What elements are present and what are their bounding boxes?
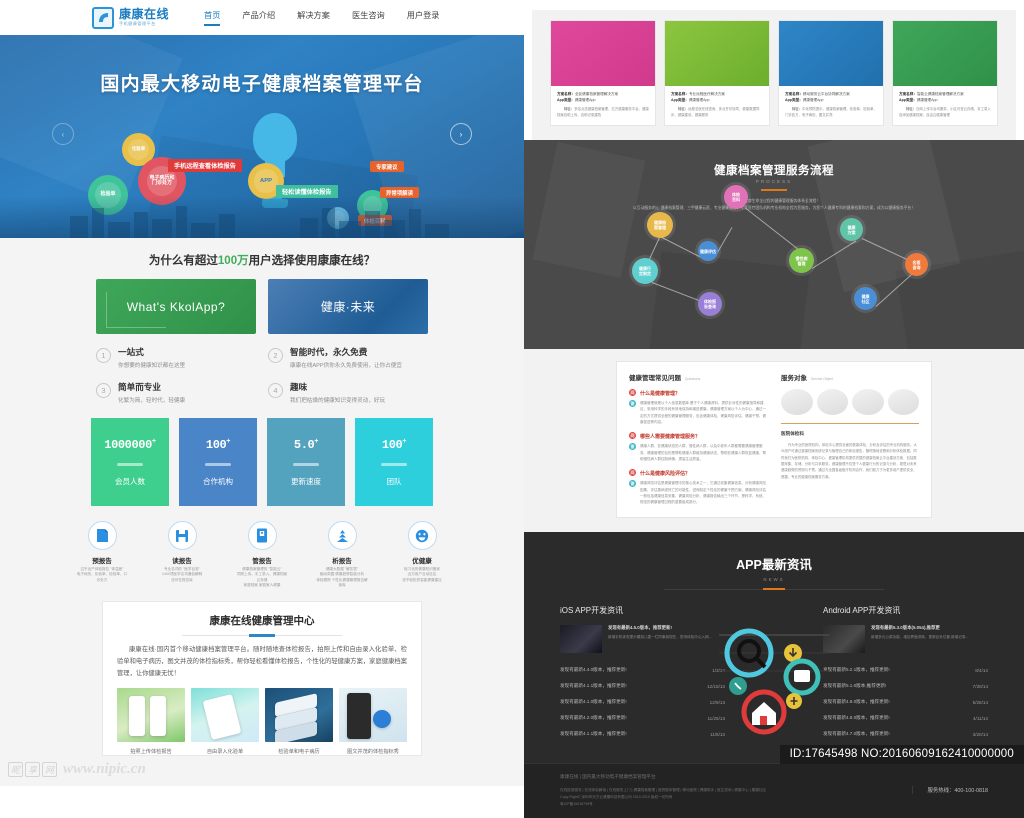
- process-section: 健康档案管理服务流程 PROCESS 健康管理 贯穿生命全过程的健康管理服务体系…: [524, 140, 1024, 349]
- solution-cards-band: 方案名称：全民健康档案管理解决方案 App类型：健康管理App 特征：多站点态健…: [532, 10, 1016, 140]
- health-center-card: 康康在线健康管理中心 康康在线·国内首个移动健康档案管理平台。随时随地查体检报告…: [102, 601, 422, 757]
- faq-question: 什么是健康风险评估？: [640, 469, 690, 477]
- process-node[interactable]: 体检 百科: [724, 185, 748, 209]
- question-badge-icon: 问: [629, 432, 636, 439]
- nipic-watermark: 昵 享 网 www.nipic.cn: [8, 761, 146, 778]
- service-object-rule: [781, 423, 919, 424]
- logo-title: 康康在线: [119, 8, 169, 20]
- process-node[interactable]: 体检报 告查询: [698, 292, 722, 316]
- solution-card-image: [551, 21, 655, 86]
- smile-icon: [408, 521, 437, 550]
- news-row[interactable]: 发现有最新4.7.0版本，推荐更新!3/20/14: [823, 726, 988, 742]
- health-center-title: 康康在线健康管理中心: [117, 613, 407, 628]
- watermark-url: www.nipic.cn: [63, 761, 146, 778]
- service-object-thumb: [852, 389, 884, 415]
- footer-slogan: 康康在线 | 国内最大移动电子健康档案管理平台: [560, 774, 988, 780]
- solution-cards-row: 方案名称：全民健康档案管理解决方案 App类型：健康管理App 特征：多站点态健…: [532, 20, 1016, 126]
- gallery-caption: 检验单和电子病历: [265, 748, 333, 755]
- solution-key: 方案名称：: [899, 92, 917, 96]
- process-node[interactable]: 健康档 案管理: [647, 212, 673, 238]
- service-item[interactable]: 预报告 过不出产体验报告 "体温差" 电子病历、化验单、检验单、口诊处方: [76, 521, 128, 589]
- solution-card-image: [665, 21, 769, 86]
- chip-expert-advice[interactable]: 专家建议: [370, 161, 404, 172]
- watermark-char: 昵: [8, 762, 23, 777]
- feature-desc: 我们把枯燥的健康知识变得灵动，好玩: [290, 396, 385, 404]
- service-title: 优健康: [396, 555, 448, 565]
- top-navbar: 康康在线 手机健康管理平台 首页 产品介绍 解决方案 医生咨询 用户登录: [0, 0, 524, 35]
- logo-mark-icon: [92, 7, 114, 29]
- solution-value: 专业远程医疗解决方案: [689, 92, 725, 96]
- process-node[interactable]: 健康 社区: [854, 287, 877, 310]
- gallery-caption: 自由录入化验单: [191, 748, 259, 755]
- solution-key: 特征：: [564, 107, 574, 111]
- faq-item[interactable]: 问 什么是健康风险评估？ 答 健康风险评估是健康管理中的核心技术之一，它通过收集…: [629, 469, 767, 505]
- watermark-char: 网: [42, 762, 57, 777]
- news-feature-desc: 新增多元公菜功能、增加界面流转，更新百补位都,新增记录...: [871, 634, 968, 640]
- news-row-date: 7/30/14: [973, 684, 988, 689]
- news-row[interactable]: 发现有最新4.1.0版本，推荐更新!12/9/13: [560, 694, 725, 710]
- service-object-body: 作为专业的医院机构，体检中心提供全面的健康体检、分析及评估的专业机构服务。大众用…: [781, 442, 919, 480]
- news-row-title: 发现有最新4.1.1版本，推荐更新!: [560, 683, 627, 689]
- service-object-images: [781, 389, 919, 415]
- nav-item-doctor-consult[interactable]: 医生咨询: [352, 9, 385, 26]
- news-feature-title: 发现有最新4.5.0版本，推荐更新!: [608, 625, 712, 631]
- news-row[interactable]: 发现有最新5.1.0版本,推荐更新!7/30/14: [823, 678, 988, 694]
- solution-value: 健康管理App: [803, 98, 824, 102]
- solution-key: 特征：: [906, 107, 916, 111]
- news-row[interactable]: 发现有最新4.1.1版本，推荐更新!11/6/13: [560, 726, 725, 742]
- news-rule: [664, 589, 884, 590]
- feature-grid: 1 一站式 你想要的健康知识都在这里 2 智能时代，永久免费 康康在线APP供你…: [96, 346, 428, 404]
- news-list-android: 发现有最新5.2.1版本，推荐更新!8/4/14 发现有最新5.1.0版本,推荐…: [823, 662, 988, 742]
- solution-key: 方案名称：: [785, 92, 803, 96]
- chart-icon: [328, 521, 357, 550]
- service-object-column: 服务对象 Service Object 医院体检科 作为专业的医院机构，体检中心…: [781, 372, 919, 505]
- stat-partners: 100+ 合作机构: [179, 418, 257, 506]
- gallery-item[interactable]: 检验单和电子病历: [265, 688, 333, 755]
- service-desc: 专业名词的 "医学百查" 1400项医学名词通俗解释 还可在报告库: [156, 567, 208, 583]
- solution-key: App类型：: [785, 98, 803, 102]
- gallery-caption: 拍照上传体检报告: [117, 748, 185, 755]
- gallery-image: [265, 688, 333, 742]
- process-node[interactable]: 健康行 定制定: [632, 258, 658, 284]
- service-item[interactable]: 析报告 健康大数据 "解答表" 触动周围 健康趋势智能分析 体检跟踪 个性化健康…: [316, 521, 368, 589]
- image-id-bar: ID:17645498 NO:20160609162410000000: [780, 745, 1024, 764]
- footer-icp: 粤ICP备15018798号: [560, 801, 988, 808]
- nav-item-products[interactable]: 产品介绍: [242, 9, 275, 26]
- news-heading-ios: iOS APP开发资讯: [560, 605, 725, 616]
- faq-question: 什么是健康管理？: [640, 389, 680, 397]
- feature-item: 4 趣味 我们把枯燥的健康知识变得灵动，好玩: [268, 381, 428, 404]
- solution-card[interactable]: 方案名称：专业远程医疗解决方案 App类型：健康管理App 特征：远程名医在线咨…: [664, 20, 770, 126]
- solution-value: 全民健康档案管理解决方案: [575, 92, 618, 96]
- app-icons-artwork: [714, 627, 834, 737]
- faq-answer: 健康人群、亚健康状态的人群、慢性病人群，以及中老年人群都需要健康管理服务。健康管…: [640, 443, 767, 462]
- solution-value: 健康管理App: [917, 98, 938, 102]
- news-row-title: 发现有最新4.1.0版本，推荐更新!: [560, 699, 627, 705]
- gallery-image: [117, 688, 185, 742]
- news-feature-ios[interactable]: 发现有最新4.5.0版本，推荐更新! 新增手机体查提示模拟儿童一栏同事到现在，您…: [560, 625, 725, 653]
- news-feature-android[interactable]: 发现有最新5.3.0版本(5.054),推荐更 新增多元公菜功能、增加界面流转，…: [823, 625, 988, 653]
- news-feature-desc: 新增手机体查提示模拟儿童一栏同事到现在，您待体检中心入网...: [608, 634, 712, 640]
- news-title: APP最新资讯: [524, 554, 1024, 573]
- news-row[interactable]: 发现有最新5.2.1版本，推荐更新!8/4/14: [823, 662, 988, 678]
- question-badge-icon: 问: [629, 469, 636, 476]
- why-cards: What's KkolApp? 健康·未来: [0, 279, 524, 334]
- service-desc: 健康大数据 "解答表" 触动周围 健康趋势智能分析 体检跟踪 个性化健康管理报告…: [316, 567, 368, 589]
- news-heading-android: Android APP开发资讯: [823, 605, 988, 616]
- news-column-ios: iOS APP开发资讯 发现有最新4.5.0版本，推荐更新! 新增手机体查提示模…: [560, 605, 725, 742]
- news-row[interactable]: 发现有最新4.9.0版本，推荐更新!5/26/14: [823, 694, 988, 710]
- faq-answer: 健康管理就是以个人信息数据库 基于个人健康资料，提供针对性的健康指导和建议，采用…: [640, 400, 767, 425]
- hero-title: 国内最大移动电子健康档案管理平台: [0, 69, 524, 96]
- why-choose-section: 为什么有超过100万用户选择使用康康在线？ What's KkolApp? 健康…: [0, 238, 524, 404]
- faq-card: 健康管理常见问题 Questions 问 什么是健康管理？ 答 健康管理就是以个…: [616, 361, 932, 518]
- faq-item[interactable]: 问 哪些人需要健康管理服务？ 答 健康人群、亚健康状态的人群、慢性病人群，以及中…: [629, 432, 767, 462]
- solution-card[interactable]: 方案名称：移动服务云平台协同解决方案 App类型：健康管理App 特征：中化预防…: [778, 20, 884, 126]
- news-column-android: Android APP开发资讯 发现有最新5.3.0版本(5.054),推荐更 …: [823, 605, 988, 742]
- feature-title: 简单而专业: [118, 381, 185, 393]
- process-accent-dash: [761, 189, 787, 191]
- process-node[interactable]: 健康评估: [698, 241, 718, 261]
- watermark-char: 享: [25, 762, 40, 777]
- solution-key: App类型：: [671, 98, 689, 102]
- news-section: APP最新资讯 NEWS: [524, 532, 1024, 818]
- service-icon-row: 预报告 过不出产体验报告 "体温差" 电子病历、化验单、检验单、口诊处方 读报告…: [0, 521, 524, 589]
- feature-number: 4: [268, 383, 283, 398]
- service-object-thumb: [781, 389, 813, 415]
- logo-subtitle: 手机健康管理平台: [119, 22, 169, 26]
- stat-members: 1000000+ 会员人数: [91, 418, 169, 506]
- solution-key: 方案名称：: [557, 92, 575, 96]
- service-desc: 过不出产体验报告 "体温差" 电子病历、化验单、检验单、口诊处方: [76, 567, 128, 583]
- gallery-image: [339, 688, 407, 742]
- screenshot-gallery: 拍照上传体检报告 自由录入化验单 检验单和电子病历: [117, 688, 407, 755]
- news-subtitle: NEWS: [524, 577, 1024, 582]
- right-webpage-column: 方案名称：全民健康档案管理解决方案 App类型：健康管理App 特征：多站点态健…: [524, 0, 1024, 786]
- feature-number: 1: [96, 348, 111, 363]
- news-row-date: 8/4/14: [975, 668, 988, 673]
- solution-value: 移动服务云平台协同解决方案: [803, 92, 850, 96]
- service-title: 读报告: [156, 555, 208, 565]
- service-object-thumb: [817, 389, 849, 415]
- solution-card[interactable]: 方案名称：全民健康档案管理解决方案 App类型：健康管理App 特征：多站点态健…: [550, 20, 656, 126]
- footer-copyright: Copy Right© 深圳市天方云健康科技有限公司 2010-2015 版权一…: [560, 794, 988, 801]
- feature-item: 2 智能时代，永久免费 康康在线APP供你永久免费使用，让你占便宜: [268, 346, 428, 369]
- title-rule: [182, 635, 342, 636]
- hero-banner: 国内最大移动电子健康档案管理平台 化验单 电子病历和 门诊处方 检验单 APP …: [0, 35, 524, 238]
- solution-value: 健康管理App: [575, 98, 596, 102]
- gallery-caption: 图文并茂的体检指标秀: [339, 748, 407, 755]
- news-row[interactable]: 发现有最新4.2.0版本，推荐更新!11/25/13: [560, 710, 725, 726]
- site-logo[interactable]: 康康在线 手机健康管理平台: [92, 7, 169, 29]
- service-item[interactable]: 优健康 轻习化的健康知识管家 近万用户互动社区 进不轻松的智能健康建议: [396, 521, 448, 589]
- skyline-decoration: [0, 196, 524, 238]
- nav-item-user-login[interactable]: 用户登录: [407, 9, 440, 26]
- news-row-date: 4/11/14: [973, 716, 988, 721]
- solution-card-image: [893, 21, 997, 86]
- solution-key: App类型：: [557, 98, 575, 102]
- news-row-title: 发现有最新4.1.1版本，推荐更新!: [560, 731, 627, 737]
- news-row[interactable]: 发现有最新4.4.0版本，推荐更新!1/3/14: [560, 662, 725, 678]
- solution-value: 健康管理App: [689, 98, 710, 102]
- solution-card[interactable]: 方案名称：智能云健康档案管理解决方案 App类型：健康管理App 特征：社网上传…: [892, 20, 998, 126]
- service-title: 管报告: [236, 555, 288, 565]
- nav-item-home[interactable]: 首页: [204, 9, 220, 26]
- floppy-icon: [168, 521, 197, 550]
- news-list-ios: 发现有最新4.4.0版本，推荐更新!1/3/14 发现有最新4.1.1版本，推荐…: [560, 662, 725, 742]
- feature-desc: 你想要的健康知识都在这里: [118, 361, 185, 369]
- faq-heading: 健康管理常见问题 Questions: [629, 372, 767, 382]
- why-card-whats-kkolapp[interactable]: What's KkolApp?: [96, 279, 256, 334]
- solution-key: 特征：: [678, 107, 688, 111]
- service-object-heading: 服务对象 Service Object: [781, 372, 919, 382]
- nav-item-solutions[interactable]: 解决方案: [297, 9, 330, 26]
- process-description: 健康管理 贯穿生命全过程的健康管理服务体系全流程！ 以互动服务的心 健康档案管理…: [524, 198, 1024, 212]
- solution-card-image: [779, 21, 883, 86]
- faq-answer: 健康风险评估是健康管理中的核心技术之一，它通过收集健康信息、分析健康风险因素、评…: [640, 480, 767, 505]
- stats-row: 1000000+ 会员人数 100+ 合作机构 5.0+ 更新速度 100+ 团…: [0, 418, 524, 506]
- news-row[interactable]: 发现有最新4.8.0版本，推荐更新!4/11/14: [823, 710, 988, 726]
- process-node[interactable]: 名医 咨询: [905, 253, 928, 276]
- faq-questions-column: 健康管理常见问题 Questions 问 什么是健康管理？ 答 健康管理就是以个…: [629, 372, 767, 505]
- gallery-item[interactable]: 自由录入化验单: [191, 688, 259, 755]
- gallery-item[interactable]: 拍照上传体检报告: [117, 688, 185, 755]
- carousel-next-button[interactable]: ›: [450, 123, 472, 145]
- news-row-title: 发现有最新4.2.0版本，推荐更新!: [560, 715, 627, 721]
- feature-title: 一站式: [118, 346, 185, 358]
- answer-badge-icon: 答: [629, 480, 636, 487]
- service-item[interactable]: 管报告 健康档案管理的 "智能云" 同照上传、手工录入、健康档案云存储 家庭档案…: [236, 521, 288, 589]
- gallery-image: [191, 688, 259, 742]
- feature-item: 1 一站式 你想要的健康知识都在这里: [96, 346, 256, 369]
- footer-hotline: 服务热线：400-100-0818: [912, 786, 988, 794]
- process-title: 健康档案管理服务流程: [524, 162, 1024, 178]
- nav-items: 首页 产品介绍 解决方案 医生咨询 用户登录: [204, 9, 439, 26]
- service-desc: 健康档案管理的 "智能云" 同照上传、手工录入、健康档案云存储 家庭档案 家庭家…: [236, 567, 288, 589]
- chip-remote-report: 手机远程查看体检报告: [168, 159, 242, 172]
- question-badge-icon: 问: [629, 389, 636, 396]
- solution-key: 特征：: [792, 107, 802, 111]
- feature-item: 3 简单而专业 化繁为简，轻时代，轻健康: [96, 381, 256, 404]
- service-title: 预报告: [76, 555, 128, 565]
- service-object-title: 医院体检科: [781, 431, 919, 437]
- answer-badge-icon: 答: [629, 400, 636, 407]
- why-card-health-future[interactable]: 健康·未来: [268, 279, 428, 334]
- feature-number: 2: [268, 348, 283, 363]
- feature-desc: 化繁为简，轻时代，轻健康: [118, 396, 185, 404]
- feature-number: 3: [96, 383, 111, 398]
- document-icon: [88, 521, 117, 550]
- faq-band: 健康管理常见问题 Questions 问 什么是健康管理？ 答 健康管理就是以个…: [524, 349, 1024, 532]
- process-subtitle: PROCESS: [524, 179, 1024, 184]
- why-heading: 为什么有超过100万用户选择使用康康在线？: [0, 252, 524, 268]
- why-card-label: 健康·未来: [321, 298, 376, 315]
- solution-key: 方案名称：: [671, 92, 689, 96]
- service-object-thumb: [888, 389, 920, 415]
- process-node[interactable]: 慢性病 管理: [789, 248, 814, 273]
- news-thumbnail: [560, 625, 602, 653]
- book-icon: [248, 521, 277, 550]
- stat-update-speed: 5.0+ 更新速度: [267, 418, 345, 506]
- gallery-item[interactable]: 图文并茂的体检指标秀: [339, 688, 407, 755]
- stat-team: 100+ 团队: [355, 418, 433, 506]
- answer-badge-icon: 答: [629, 443, 636, 450]
- health-center-paragraph: 康康在线·国内首个移动健康档案管理平台。随时随地查体检报告，拍照上传和自由录入化…: [117, 644, 407, 681]
- site-footer: 康康在线 | 国内最大移动电子健康档案管理平台 在线投放服务 | 在线体检解读 …: [524, 763, 1024, 818]
- solution-value: 智能云健康档案管理解决方案: [917, 92, 964, 96]
- screenshot-root: 康康在线 手机健康管理平台 首页 产品介绍 解决方案 医生咨询 用户登录 国内最…: [0, 0, 1024, 786]
- why-card-label: What's KkolApp?: [127, 300, 226, 314]
- solution-key: App类型：: [899, 98, 917, 102]
- service-desc: 轻习化的健康知识管家 近万用户互动社区 进不轻松的智能健康建议: [396, 567, 448, 583]
- feature-title: 智能时代，永久免费: [290, 346, 402, 358]
- news-row[interactable]: 发现有最新4.1.1版本，推荐更新!12/15/13: [560, 678, 725, 694]
- faq-item[interactable]: 问 什么是健康管理？ 答 健康管理就是以个人信息数据库 基于个人健康资料，提供针…: [629, 389, 767, 425]
- carousel-prev-button[interactable]: ‹: [52, 123, 74, 145]
- service-title: 析报告: [316, 555, 368, 565]
- faq-question: 哪些人需要健康管理服务？: [640, 432, 700, 440]
- news-row-date: 5/26/14: [973, 700, 988, 705]
- feature-title: 趣味: [290, 381, 385, 393]
- feature-desc: 康康在线APP供你永久免费使用，让你占便宜: [290, 361, 402, 369]
- process-node[interactable]: 健康 方案: [840, 218, 863, 241]
- news-feature-title: 发现有最新5.3.0版本(5.054),推荐更: [871, 625, 968, 631]
- news-row-title: 发现有最新4.4.0版本，推荐更新!: [560, 667, 627, 673]
- service-item[interactable]: 读报告 专业名词的 "医学百查" 1400项医学名词通俗解释 还可在报告库: [156, 521, 208, 589]
- left-webpage-column: 康康在线 手机健康管理平台 首页 产品介绍 解决方案 医生咨询 用户登录 国内最…: [0, 0, 524, 786]
- news-row-date: 3/20/14: [973, 732, 988, 737]
